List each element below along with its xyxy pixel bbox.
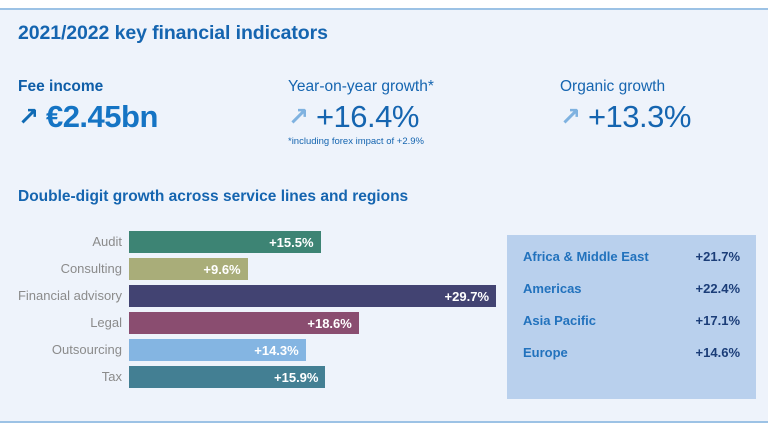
bar-fill: +29.7% [129, 285, 496, 307]
region-name: Americas [523, 281, 582, 296]
region-value: +22.4% [696, 281, 740, 296]
kpi-fee-income-value: €2.45bn [46, 101, 158, 132]
arrow-up-right-icon: ↗ [18, 104, 39, 129]
bar-value-label: +14.3% [254, 343, 305, 358]
bar-track: +14.3% [129, 339, 496, 361]
region-value: +21.7% [696, 249, 740, 264]
bar-fill: +18.6% [129, 312, 359, 334]
kpi-fee-income-value-row: ↗ €2.45bn [18, 101, 158, 132]
page-title: 2021/2022 key financial indicators [18, 22, 328, 45]
bar-track: +29.7% [129, 285, 496, 307]
bar-category-label: Financial advisory [0, 285, 122, 307]
region-value: +17.1% [696, 313, 740, 328]
kpi-fee-income: Fee income ↗ €2.45bn [18, 78, 158, 132]
bar-value-label: +15.5% [269, 235, 320, 250]
kpi-year-on-year-growth-footnote: *including forex impact of +2.9% [288, 136, 434, 147]
region-row: Asia Pacific+17.1% [523, 313, 740, 345]
bar-track: +18.6% [129, 312, 496, 334]
region-row: Africa & Middle East+21.7% [523, 249, 740, 281]
bar-category-label: Consulting [0, 258, 122, 280]
bar-value-label: +18.6% [307, 316, 358, 331]
kpi-organic-growth: Organic growth ↗ +13.3% [560, 78, 691, 132]
kpi-fee-income-label: Fee income [18, 78, 158, 95]
bottom-divider-rule [0, 421, 768, 423]
bar-fill: +9.6% [129, 258, 248, 280]
bar-track: +15.9% [129, 366, 496, 388]
bar-category-label: Outsourcing [0, 339, 122, 361]
region-name: Asia Pacific [523, 313, 596, 328]
bar-category-label: Legal [0, 312, 122, 334]
kpi-organic-growth-value: +13.3% [588, 101, 691, 132]
bar-value-label: +9.6% [203, 262, 247, 277]
section-subheading: Double-digit growth across service lines… [18, 188, 408, 206]
region-growth-panel: Africa & Middle East+21.7%Americas+22.4%… [507, 235, 756, 399]
kpi-year-on-year-growth-value: +16.4% [316, 101, 419, 132]
region-name: Africa & Middle East [523, 249, 649, 264]
bar-category-label: Tax [0, 366, 122, 388]
kpi-year-on-year-growth-label: Year-on-year growth* [288, 78, 434, 95]
arrow-up-right-icon: ↗ [288, 104, 309, 129]
region-row: Americas+22.4% [523, 281, 740, 313]
region-value: +14.6% [696, 345, 740, 360]
bar-category-label: Audit [0, 231, 122, 253]
region-name: Europe [523, 345, 568, 360]
bar-fill: +15.5% [129, 231, 321, 253]
kpi-organic-growth-label: Organic growth [560, 78, 691, 95]
kpi-year-on-year-growth-value-row: ↗ +16.4% [288, 101, 434, 132]
bar-value-label: +29.7% [445, 289, 496, 304]
bar-track: +15.5% [129, 231, 496, 253]
region-row: Europe+14.6% [523, 345, 740, 377]
kpi-organic-growth-value-row: ↗ +13.3% [560, 101, 691, 132]
slide-canvas: 2021/2022 key financial indicators Fee i… [0, 0, 768, 432]
kpi-year-on-year-growth: Year-on-year growth* ↗ +16.4% *including… [288, 78, 434, 147]
bar-fill: +15.9% [129, 366, 325, 388]
bar-value-label: +15.9% [274, 370, 325, 385]
bar-track: +9.6% [129, 258, 496, 280]
arrow-up-right-icon: ↗ [560, 104, 581, 129]
bar-fill: +14.3% [129, 339, 306, 361]
